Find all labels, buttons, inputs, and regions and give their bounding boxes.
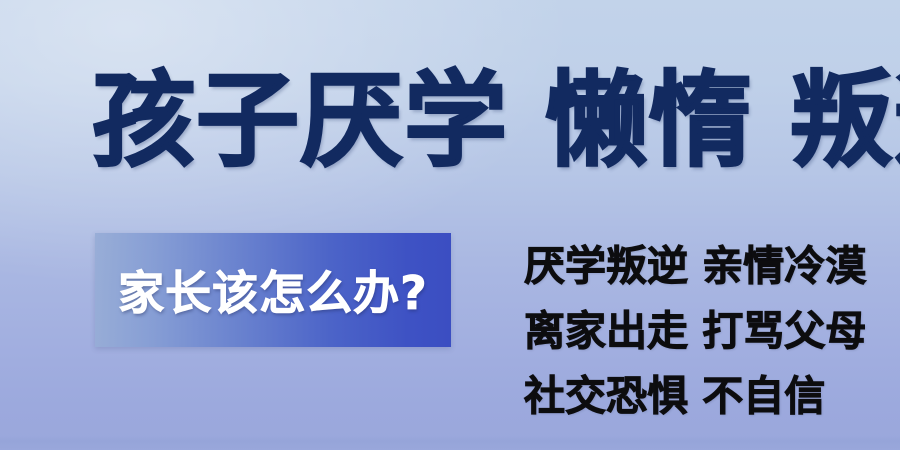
- headline-text: 孩子厌学 懒惰 叛逆: [92, 58, 832, 186]
- cta-label: 家长该怎么办?: [118, 257, 428, 323]
- symptom-line: 离家出走 打骂父母: [524, 299, 854, 364]
- symptom-list: 厌学叛逆 亲情冷漠 离家出走 打骂父母 社交恐惧 不自信: [524, 234, 854, 429]
- cta-banner: 家长该怎么办?: [95, 233, 451, 347]
- symptom-line: 厌学叛逆 亲情冷漠: [524, 234, 854, 299]
- poster-canvas: 孩子厌学 懒惰 叛逆 家长该怎么办? 厌学叛逆 亲情冷漠 离家出走 打骂父母 社…: [0, 0, 900, 450]
- symptom-line: 社交恐惧 不自信: [524, 364, 854, 429]
- background-bottom-band: [0, 436, 900, 450]
